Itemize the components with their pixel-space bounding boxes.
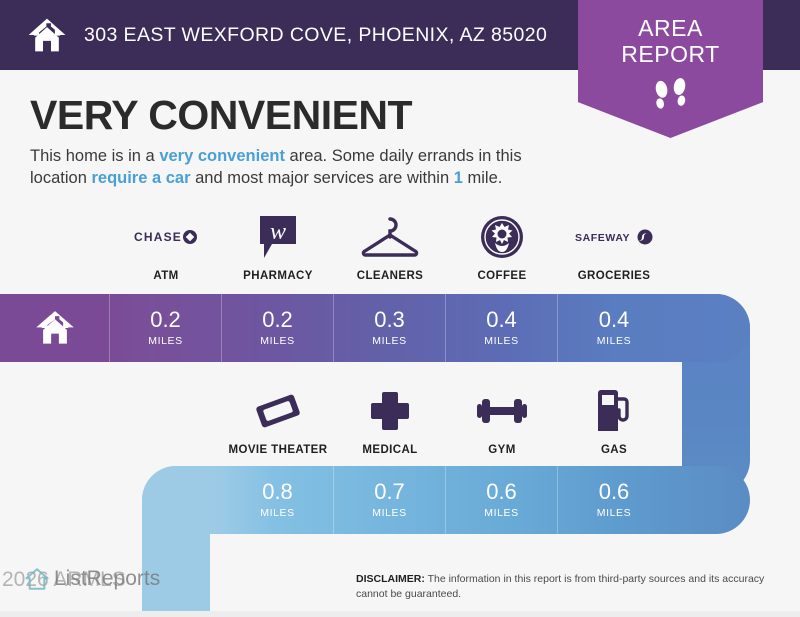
distance-value: 0.2 [262, 309, 293, 331]
page-subtitle: This home is in a very convenient area. … [30, 145, 575, 190]
amenity-icon-row-2: MOVIE THEATER MEDICAL GYM [222, 388, 670, 456]
ticket-icon [254, 388, 302, 434]
amenity-atm: CHASE ATM [110, 214, 222, 282]
amenity-coffee: COFFEE [446, 214, 558, 282]
footprints-icon [648, 78, 694, 112]
amenity-label: GYM [488, 444, 515, 456]
svg-text:SAFEWAY: SAFEWAY [575, 232, 630, 244]
amenity-label: COFFEE [477, 270, 526, 282]
amenity-cleaners: CLEANERS [334, 214, 446, 282]
safeway-logo-icon: SAFEWAY [575, 214, 653, 260]
badge-line-2: REPORT [621, 42, 719, 68]
amenity-label: PHARMACY [243, 270, 313, 282]
house-icon [26, 14, 68, 56]
distance-unit: MILES [260, 507, 295, 519]
walgreens-logo-icon: w [258, 214, 298, 260]
medical-cross-icon [369, 388, 411, 434]
distance-unit: MILES [260, 335, 295, 347]
subtitle-part-4: mile. [463, 169, 502, 187]
house-logo-icon [24, 566, 50, 592]
distance-unit: MILES [372, 507, 407, 519]
footer-strip [0, 611, 800, 617]
amenity-label: MOVIE THEATER [229, 444, 328, 456]
subtitle-highlight-1: very convenient [159, 147, 285, 165]
starbucks-logo-icon [480, 214, 524, 260]
distance-unit: MILES [484, 335, 519, 347]
distance-unit: MILES [148, 335, 183, 347]
amenity-gym: GYM [446, 388, 558, 456]
amenity-movie-theater: MOVIE THEATER [222, 388, 334, 456]
gas-pump-icon [594, 388, 634, 434]
amenity-label: CLEANERS [357, 270, 423, 282]
amenity-groceries: SAFEWAY GROCERIES [558, 214, 670, 282]
distance-unit: MILES [597, 335, 632, 347]
subtitle-part-1: This home is in a [30, 147, 159, 165]
distance-cell: 0.6 MILES [446, 466, 558, 534]
watermark-listreports-label: ListReports [54, 567, 160, 591]
house-icon [35, 309, 75, 347]
distance-cell: 0.7 MILES [334, 466, 446, 534]
distance-value: 0.4 [599, 309, 630, 331]
distance-cell: 0.2 MILES [222, 294, 334, 362]
distance-cell: 0.3 MILES [334, 294, 446, 362]
area-report-badge: AREA REPORT [578, 0, 763, 138]
amenity-label: MEDICAL [362, 444, 417, 456]
area-report-page: 303 EAST WEXFORD COVE, PHOENIX, AZ 85020… [0, 0, 800, 617]
disclaimer: DISCLAIMER: The information in this repo… [356, 572, 786, 602]
distance-unit: MILES [484, 507, 519, 519]
distance-cell: 0.8 MILES [222, 466, 334, 534]
distance-cell: 0.6 MILES [558, 466, 670, 534]
amenity-label: GAS [601, 444, 627, 456]
amenity-pharmacy: w PHARMACY [222, 214, 334, 282]
distance-unit: MILES [597, 507, 632, 519]
distance-cell: 0.4 MILES [446, 294, 558, 362]
amenity-gas: GAS [558, 388, 670, 456]
home-marker-cell [0, 294, 110, 362]
distance-value: 0.3 [374, 309, 405, 331]
amenity-label: ATM [153, 270, 178, 282]
svg-text:CHASE: CHASE [134, 230, 182, 244]
distance-value: 0.6 [599, 481, 630, 503]
property-address: 303 EAST WEXFORD COVE, PHOENIX, AZ 85020 [84, 24, 547, 47]
distance-value: 0.8 [262, 481, 293, 503]
distance-value: 0.4 [486, 309, 517, 331]
distance-value: 0.6 [486, 481, 517, 503]
svg-text:w: w [270, 219, 286, 245]
page-title: VERY CONVENIENT [30, 92, 412, 139]
dumbbell-icon [475, 388, 529, 434]
hanger-icon [361, 214, 419, 260]
chase-logo-icon: CHASE [134, 214, 198, 260]
amenity-icon-row-1: CHASE ATM w PHARMACY [110, 214, 670, 282]
disclaimer-label: DISCLAIMER: [356, 573, 425, 585]
watermark-listreports: ListReports [24, 566, 160, 592]
distance-values-row-1: 0.2 MILES 0.2 MILES 0.3 MILES 0.4 MILES … [110, 294, 670, 362]
distance-cell: 0.4 MILES [558, 294, 670, 362]
subtitle-highlight-3: 1 [454, 169, 463, 187]
badge-line-1: AREA [638, 16, 703, 42]
distance-unit: MILES [372, 335, 407, 347]
distance-value: 0.7 [374, 481, 405, 503]
distance-cell: 0.2 MILES [110, 294, 222, 362]
distance-value: 0.2 [150, 309, 181, 331]
amenity-medical: MEDICAL [334, 388, 446, 456]
amenity-label: GROCERIES [578, 270, 651, 282]
subtitle-highlight-2: require a car [91, 169, 190, 187]
subtitle-part-3: and most major services are within [191, 169, 454, 187]
distance-values-row-2: 0.8 MILES 0.7 MILES 0.6 MILES 0.6 MILES [222, 466, 670, 534]
